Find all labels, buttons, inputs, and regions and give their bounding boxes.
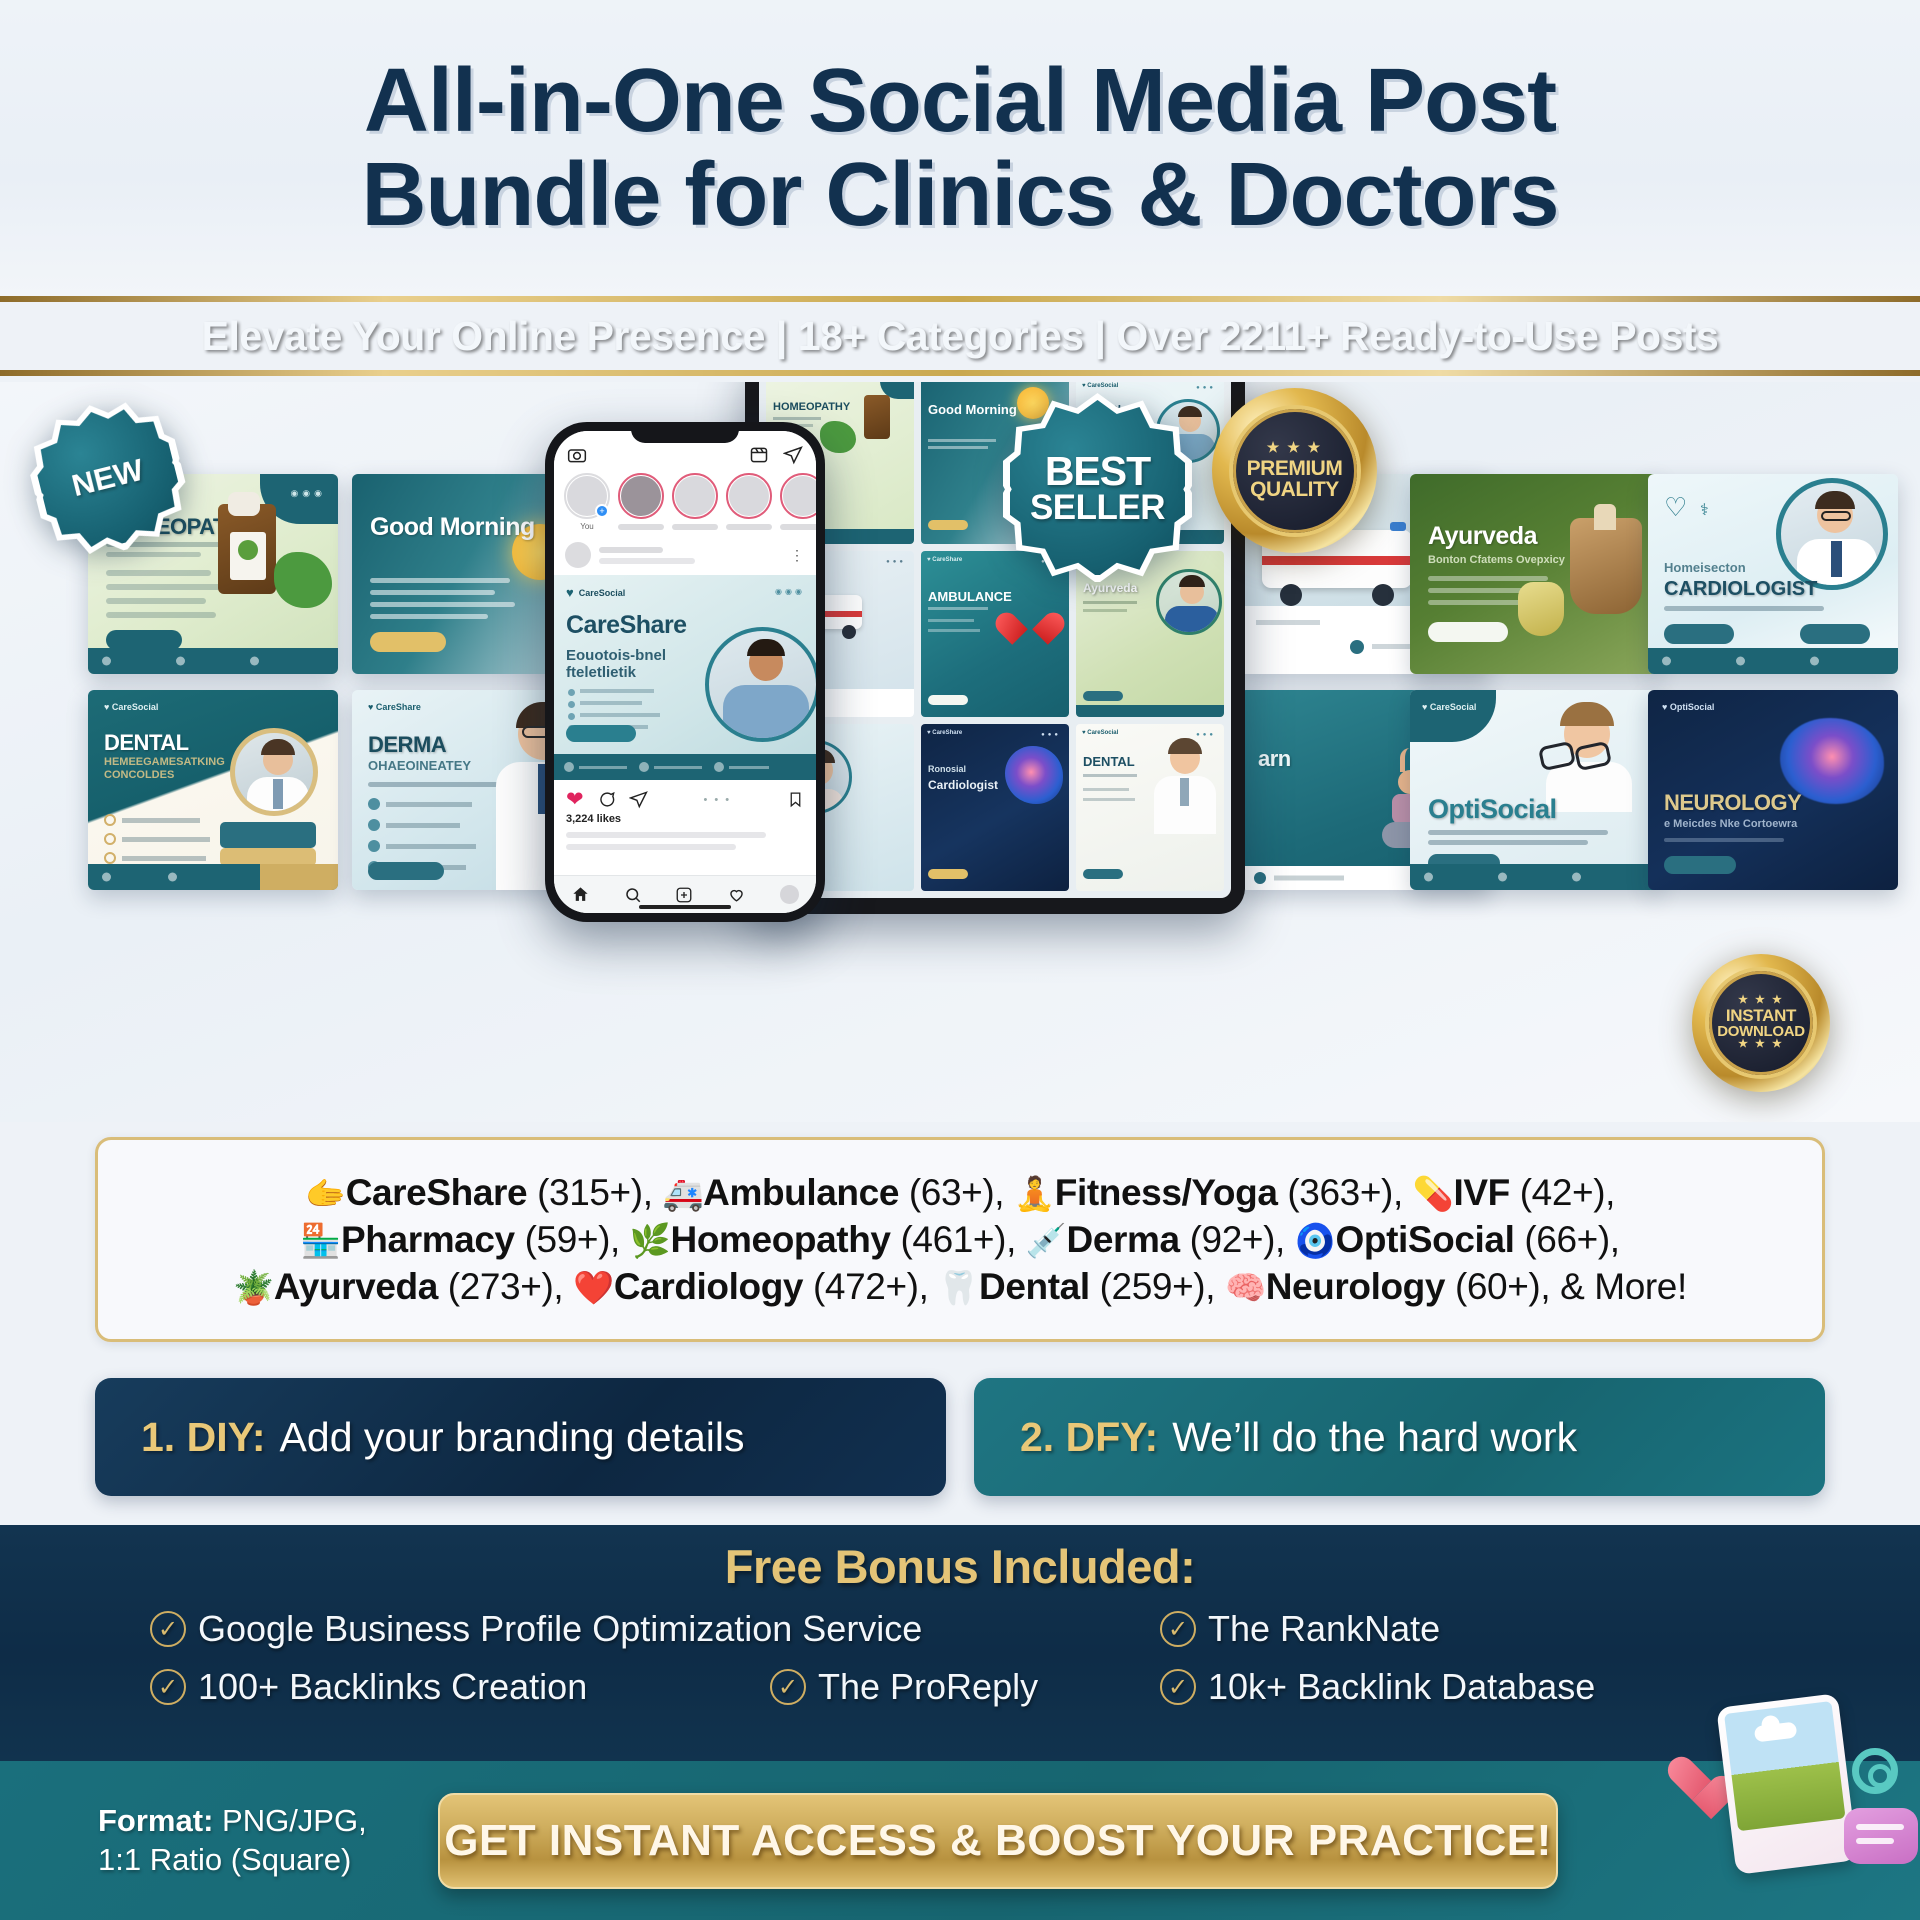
title-line-2: Bundle for Clinics & Doctors [361,148,1558,243]
tile-title: Good Morning [928,403,1017,417]
add-story-icon[interactable]: + [595,504,609,518]
check-icon: ✓ [1160,1611,1196,1647]
post-actions: ❤ • • • [554,780,816,813]
story-item-you[interactable]: + You [564,473,610,531]
card-subtitle: Bonton Cfatems Ovepxicy [1428,554,1565,566]
mock-card-neurology: ♥ OptiSocial NEUROLOGY e Meicdes Nke Cor… [1648,690,1898,890]
badge-premium-stars: ★ ★ ★ [1267,440,1322,454]
tablet-tile: ♥ CareSocial ●●● DENTAL [1076,724,1224,891]
cat-count: (42+) [1520,1172,1605,1213]
subtitle-banner: Elevate Your Online Presence | 18+ Categ… [0,296,1920,376]
card-footer [1648,648,1898,674]
post-social-icons: ◉◉◉ [775,587,805,596]
bonus-item: ✓ The ProReply [770,1666,1160,1708]
cat-name: Cardiology [614,1266,803,1307]
cat-icon-cardiology: ❤️ [573,1269,614,1306]
cat-icon-dental: 🦷 [938,1269,979,1306]
mock-card-cardiologist: ♡ ⚕ Homeisecton CARDIOLOGIST [1648,474,1898,674]
badge-instant-download: ★ ★ ★ INSTANT DOWNLOAD ★ ★ ★ [1692,954,1830,1092]
profile-avatar-icon[interactable] [780,885,799,904]
cat-icon-optisocial: 🧿 [1295,1222,1336,1259]
plan-diy-key: 1. DIY: [141,1414,266,1461]
cat-icon-derma: 💉 [1026,1222,1067,1259]
cat-icon-fitness-yoga: 🧘 [1014,1175,1055,1212]
format-ratio: 1:1 Ratio (Square) [98,1841,428,1880]
cat-name: Dental [979,1266,1090,1307]
card-title: NEUROLOGY [1664,790,1801,816]
post-brand-logo: CareSocial [579,588,626,598]
cat-count: (472+) [813,1266,919,1307]
tablet-tile: ♥ CareShare ●●● Ronosial Cardiologist [921,724,1069,891]
phone-notch [631,422,739,443]
page-title: All-in-One Social Media Post Bundle for … [361,54,1558,243]
check-icon: ✓ [150,1611,186,1647]
cat-count: (315+) [537,1172,643,1213]
check-icon: ✓ [150,1669,186,1705]
bonus-item: ✓ 10k+ Backlink Database [1160,1666,1595,1708]
bookmark-icon[interactable] [787,790,804,809]
plan-diy-text: Add your branding details [280,1414,745,1461]
cat-name: Homeopathy [671,1219,891,1260]
bonus-item-label: The ProReply [818,1666,1038,1708]
cat-icon-pharmacy: 🏪 [300,1222,341,1259]
plan-dfy-key: 2. DFY: [1020,1414,1158,1461]
badge-instant-stars-bottom: ★ ★ ★ [1738,1039,1784,1050]
card-title: DENTAL [104,730,189,756]
check-icon: ✓ [770,1669,806,1705]
card-title: Good Morning [370,514,535,540]
card-footer [88,864,338,890]
format-info: Format: PNG/JPG, 1:1 Ratio (Square) [98,1802,428,1880]
cat-count: (259+) [1100,1266,1206,1307]
direct-message-icon[interactable] [783,445,803,465]
title-line-1: All-in-One Social Media Post [364,51,1556,151]
cat-icon-ambulance: 🚑 [662,1175,703,1212]
format-label: Format: [98,1803,213,1838]
cat-count: (363+) [1287,1172,1393,1213]
card-photo [230,728,318,816]
tile-title: HOMEOPATHY [773,401,850,413]
card-subtitle: HEMEEGAMESATKING CONCOLDES [104,756,224,782]
mock-card-optisocial: ♥ CareSocial OptiSocial [1410,690,1660,890]
post-header: ⋮ [554,535,816,575]
cat-icon-ivf: 💊 [1413,1175,1454,1212]
cta-button[interactable]: GET INSTANT ACCESS & BOOST YOUR PRACTICE… [438,1793,1558,1889]
plan-dfy[interactable]: 2. DFY: We’ll do the hard work [974,1378,1825,1496]
phone-screen: + You ⋮ [554,431,816,913]
badge-instant-stars-top: ★ ★ ★ [1738,995,1784,1006]
bonus-section: Free Bonus Included: ✓ Google Business P… [0,1525,1920,1761]
tile-title: DENTAL [1083,754,1135,769]
stories-tray[interactable]: + You [554,465,816,535]
avatar[interactable] [565,542,591,568]
cat-count: (63+) [909,1172,994,1213]
cat-icon-homeopathy: 🌿 [630,1222,671,1259]
card-footer [1410,864,1660,890]
story-label: You [564,522,610,531]
cat-count: (66+) [1524,1219,1609,1260]
cat-count: (59+) [525,1219,610,1260]
card-title: Ayurveda [1428,522,1537,551]
reels-icon[interactable] [749,445,769,465]
card-photo [1776,478,1888,590]
hero-section: All-in-One Social Media Post Bundle for … [0,0,1920,296]
card-title: DERMA [368,732,446,758]
story-item[interactable] [780,473,816,531]
cta-label: GET INSTANT ACCESS & BOOST YOUR PRACTICE… [444,1816,1552,1866]
badge-instant-line2: DOWNLOAD [1717,1024,1805,1039]
home-icon[interactable] [571,885,590,904]
bonus-item: ✓ The RankNate [1160,1608,1440,1650]
cat-count: (92+) [1190,1219,1275,1260]
bonus-item-label: 10k+ Backlink Database [1208,1666,1595,1708]
mock-card-ayurveda: Ayurveda Bonton Cfatems Ovepxicy [1410,474,1660,674]
categories-line-1: 🫱CareShare (315+), 🚑Ambulance (63+), 🧘Fi… [305,1172,1615,1214]
bonus-item: ✓ 100+ Backlinks Creation [150,1666,770,1708]
search-icon[interactable] [624,886,642,904]
card-cta [1664,856,1736,874]
cat-icon-ayurveda: 🪴 [233,1269,274,1306]
home-indicator [639,905,731,909]
card-subtitle: OHAEOINEATEY [368,758,471,773]
categories-box: 🫱CareShare (315+), 🚑Ambulance (63+), 🧘Fi… [95,1137,1825,1342]
comment-icon[interactable] [597,790,616,809]
plan-diy[interactable]: 1. DIY: Add your branding details [95,1378,946,1496]
categories-more: & More! [1560,1266,1687,1307]
cat-name: Derma [1067,1219,1180,1260]
badge-seller-label: SELLER [1030,490,1165,525]
footer-section: Format: PNG/JPG, 1:1 Ratio (Square) GET … [0,1761,1920,1920]
tile-title: AMBULANCE [928,589,1012,604]
cat-name: OptiSocial [1335,1219,1514,1260]
phone-mockup: + You ⋮ [545,422,825,922]
bonus-heading: Free Bonus Included: [0,1539,1920,1594]
tile-title: Cardiologist [928,778,998,792]
badge-premium-line2: QUALITY [1250,479,1339,500]
bonus-item: ✓ Google Business Profile Optimization S… [150,1608,1160,1650]
product-showcase: ◉◉◉ HOMEOPATHY Good Morning [0,382,1920,1122]
activity-heart-icon[interactable] [727,885,746,904]
cat-icon-neurology: 🧠 [1225,1269,1266,1306]
bonus-item-label: 100+ Backlinks Creation [198,1666,587,1708]
story-item[interactable] [726,473,772,531]
post-image: ♥ CareSocial ◉◉◉ CareShare Eouotois-bnel… [554,575,816,780]
card-cta [1428,622,1508,642]
badge-instant-line1: INSTANT [1726,1007,1796,1024]
card-subtitle: Homeisecton [1664,560,1746,575]
subtitle-categories: 18+ Categories [798,313,1084,359]
post-headline-1: Eouotois-bnel [566,647,666,664]
subtitle-sep-2: | [1095,313,1106,359]
cat-count: (60+) [1455,1266,1540,1307]
bonus-row-2: ✓ 100+ Backlinks Creation ✓ The ProReply… [150,1666,1770,1708]
post-menu-icon[interactable]: ⋮ [790,547,805,564]
post-title: CareShare [566,611,687,640]
post-headline-2: fteletlietik [566,664,666,681]
cat-name: Neurology [1266,1266,1445,1307]
mock-card-dental: ♥ CareSocial DENTAL HEMEEGAMESATKING CON… [88,690,338,890]
cat-count: (273+) [448,1266,554,1307]
card-cta [1664,624,1734,644]
card-title: arn [1258,746,1291,772]
format-value: PNG/JPG, [222,1803,367,1838]
badge-best-label: BEST [1045,451,1150,492]
cat-name: Pharmacy [341,1219,515,1260]
like-count: 3,224 likes [554,813,816,825]
card-cta [368,862,444,880]
subtitle-presence: Elevate Your Online Presence [202,313,765,359]
bonus-item-label: Google Business Profile Optimization Ser… [198,1608,922,1650]
cat-name: Fitness/Yoga [1055,1172,1278,1213]
cat-icon-careshare: 🫱 [305,1175,346,1212]
plans-row: 1. DIY: Add your branding details 2. DFY… [95,1378,1825,1496]
add-post-icon[interactable] [675,886,693,904]
subtitle-posts: Over 2211+ Ready-to-Use Posts [1116,313,1718,359]
carousel-dots: • • • [661,794,774,806]
like-heart-icon[interactable]: ❤ [566,789,584,810]
tablet-tile: ♥ CareShare ●●● AMBULANCE [921,551,1069,718]
card-cta [106,630,182,650]
story-item[interactable] [672,473,718,531]
plan-dfy-text: We’ll do the hard work [1172,1414,1577,1461]
bonus-item-label: The RankNate [1208,1608,1440,1650]
card-subtitle: e Meicdes Nke Cortoewra [1664,818,1797,830]
cat-name: Ayurveda [274,1266,438,1307]
badge-premium-line1: PREMIUM [1247,458,1343,479]
cat-name: Ambulance [703,1172,899,1213]
heart-logo-icon: ♥ [566,585,574,600]
tile-title: Ayurveda [1083,581,1137,595]
badge-premium-quality: ★ ★ ★ PREMIUM QUALITY [1212,388,1377,553]
share-icon[interactable] [629,790,648,809]
categories-line-3: 🪴Ayurveda (273+), ❤️Cardiology (472+), 🦷… [233,1266,1687,1308]
card-title: CARDIOLOGIST [1664,578,1817,601]
post-cta-button[interactable] [566,725,636,742]
cat-count: (461+) [900,1219,1006,1260]
badge-best-seller: BEST SELLER [1010,400,1185,575]
categories-line-2: 🏪Pharmacy (59+), 🌿Homeopathy (461+), 💉De… [300,1219,1619,1261]
check-icon: ✓ [1160,1669,1196,1705]
heart-3d-icon [1666,1758,1718,1806]
bonus-row-1: ✓ Google Business Profile Optimization S… [150,1608,1770,1650]
subtitle-sep-1: | [776,313,787,359]
cat-name: CareShare [346,1172,528,1213]
chat-bubble-3d-icon [1844,1808,1918,1864]
promo-graphic: All-in-One Social Media Post Bundle for … [0,0,1920,1920]
card-cta [370,632,446,652]
story-item[interactable] [618,473,664,531]
camera-icon[interactable] [567,445,587,465]
subtitle-text: Elevate Your Online Presence | 18+ Categ… [202,313,1719,360]
cat-name: IVF [1453,1172,1509,1213]
card-title: OptiSocial [1428,794,1557,825]
card-footer [88,648,338,674]
